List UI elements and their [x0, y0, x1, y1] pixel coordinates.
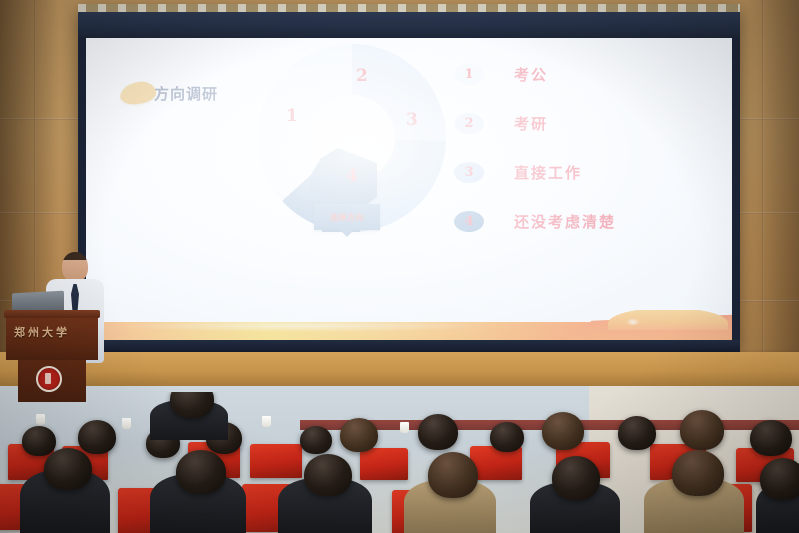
- audience-head: [418, 414, 458, 450]
- seat: [360, 448, 408, 480]
- audience-head: [22, 426, 56, 456]
- paper-cup: [122, 418, 131, 429]
- legend-label-3: 直接工作: [514, 162, 582, 183]
- projection-screen: 方向调研 1 2 3 4 选择方向 1 考公: [78, 4, 740, 352]
- presentation-slide: 方向调研 1 2 3 4 选择方向 1 考公: [86, 38, 732, 340]
- legend-item-1: 1 考公: [454, 50, 704, 99]
- audience-head: [552, 456, 600, 500]
- page-title: 方向调研: [154, 83, 218, 104]
- question-mark-chart: 1 2 3 4 选择方向: [258, 44, 463, 254]
- paper-cup: [36, 414, 45, 425]
- segment-number-4: 4: [346, 166, 358, 186]
- audience-head: [490, 422, 524, 452]
- audience-head: [760, 458, 799, 500]
- seat: [250, 444, 302, 478]
- center-callout-label: 选择方向: [330, 213, 364, 222]
- podium: 郑州大学: [4, 310, 100, 402]
- legend-item-4: 4 还没考虑清楚: [454, 197, 704, 246]
- legend-bullet-3: 3: [454, 162, 484, 183]
- legend-bullet-2: 2: [454, 113, 484, 134]
- screen-bottom-frame: [78, 340, 740, 352]
- legend-list: 1 考公 2 考研 3 直接工作 4 还没考虑清楚: [454, 50, 704, 246]
- university-crest-icon: [36, 366, 62, 392]
- presenter-head: [62, 252, 88, 282]
- orange-blob-icon: [119, 80, 157, 106]
- screen-top-rail: [78, 4, 740, 12]
- legend-item-3: 3 直接工作: [454, 148, 704, 197]
- screen-top-band: [78, 12, 740, 38]
- legend-label-2: 考研: [514, 113, 548, 134]
- audience-head: [428, 452, 478, 498]
- slide-title-group: 方向调研: [120, 82, 218, 104]
- paper-cup: [262, 416, 271, 427]
- audience-head: [680, 410, 724, 450]
- podium-top: [4, 310, 100, 318]
- wall-shadow-right: [749, 0, 799, 400]
- audience-head: [672, 450, 724, 496]
- legend-label-4: 还没考虑清楚: [514, 211, 616, 232]
- band-hill-sparkle: [626, 318, 640, 326]
- audience-head: [618, 416, 656, 450]
- wood-trim-strip: [0, 352, 799, 386]
- center-callout-box: 选择方向: [314, 204, 380, 230]
- screenshot-root: 方向调研 1 2 3 4 选择方向 1 考公: [0, 0, 799, 533]
- legend-label-1: 考公: [514, 64, 548, 85]
- audience-head: [304, 454, 352, 496]
- segment-number-2: 2: [356, 66, 368, 86]
- legend-bullet-4: 4: [454, 211, 484, 232]
- podium-institution-text: 郑州大学: [14, 324, 86, 340]
- audience-head: [44, 448, 92, 490]
- slide-footer-band: [86, 310, 732, 340]
- paper-cup: [400, 422, 409, 433]
- audience-head: [542, 412, 584, 450]
- legend-item-2: 2 考研: [454, 99, 704, 148]
- audience-head: [300, 426, 332, 454]
- audience-head: [78, 420, 116, 454]
- audience-head: [340, 418, 378, 452]
- legend-bullet-1: 1: [454, 64, 484, 85]
- audience-area: [0, 392, 799, 533]
- audience-head: [176, 450, 226, 494]
- band-glow: [112, 320, 487, 332]
- segment-number-1: 1: [286, 106, 298, 126]
- segment-number-3: 3: [406, 110, 418, 130]
- audience-head: [750, 420, 792, 456]
